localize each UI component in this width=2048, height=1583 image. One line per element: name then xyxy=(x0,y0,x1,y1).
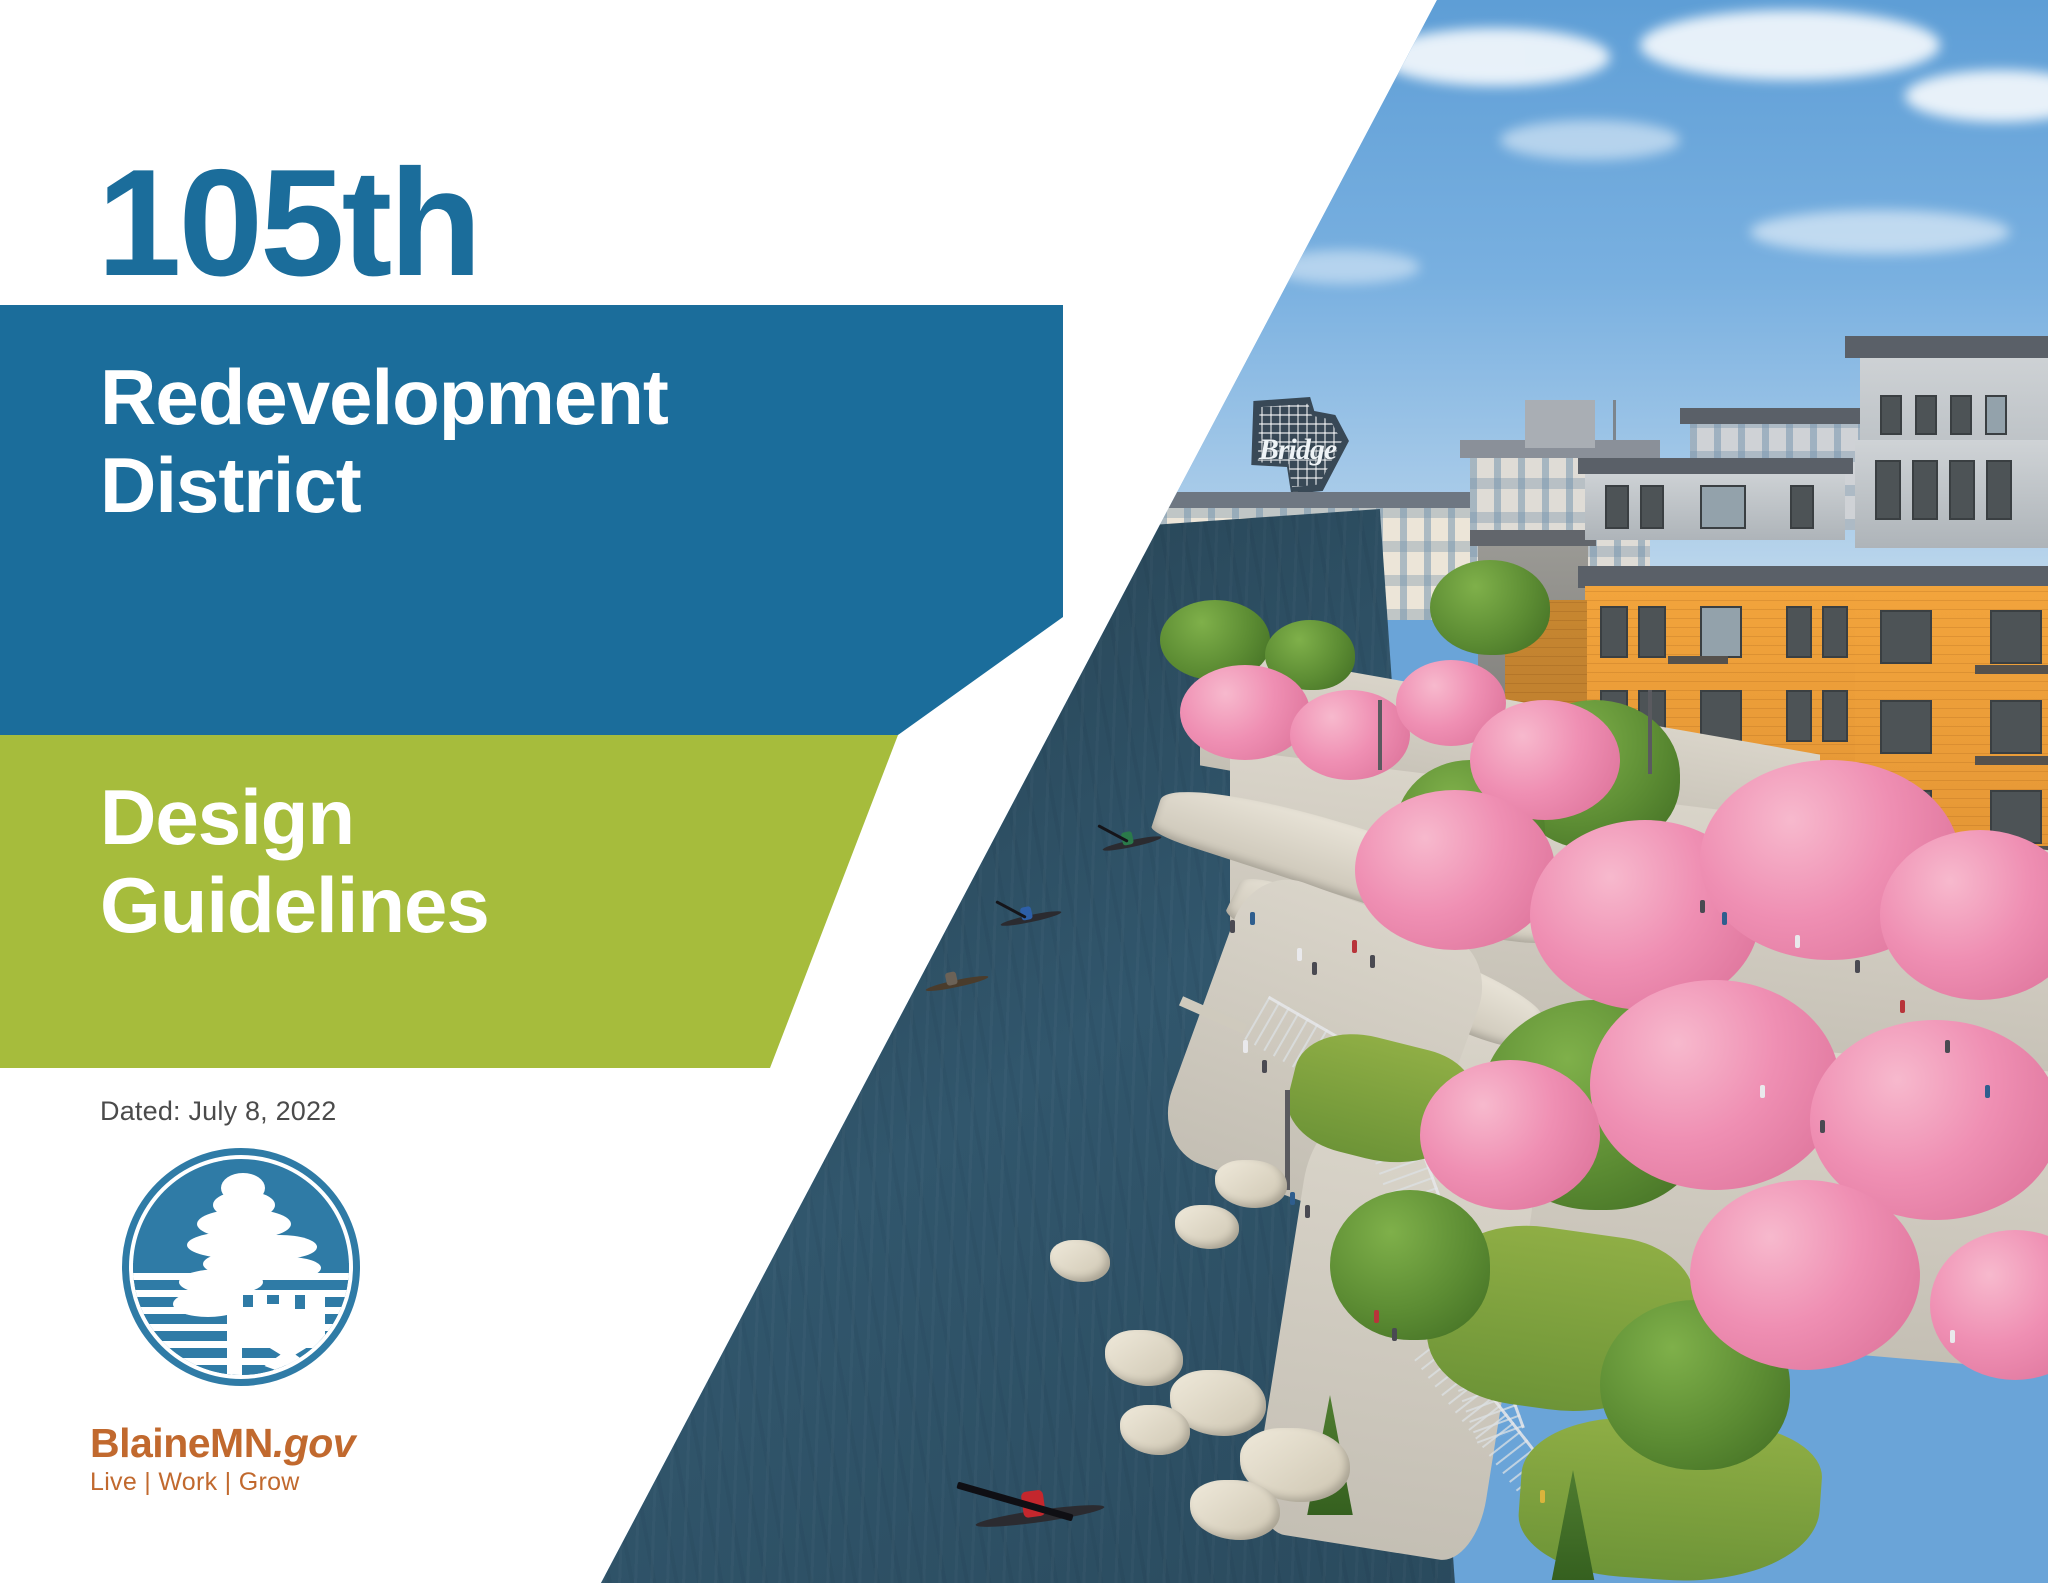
window xyxy=(1822,606,1848,658)
green-banner-line-2: Guidelines xyxy=(100,861,489,949)
balcony xyxy=(1975,665,2048,674)
document-cover-page: Bridge xyxy=(0,0,2048,1583)
pedestrian xyxy=(1312,962,1317,975)
window xyxy=(1880,700,1932,754)
window xyxy=(1790,485,1814,529)
pedestrian xyxy=(1243,1040,1248,1053)
light-pole xyxy=(1285,1090,1290,1190)
pedestrian xyxy=(1230,920,1235,933)
building-roof xyxy=(1578,458,1853,474)
pedestrian xyxy=(1297,948,1302,961)
balcony xyxy=(1668,656,1728,664)
pedestrian xyxy=(1290,1192,1295,1205)
brand-name-line: BlaineMN.gov xyxy=(90,1420,510,1467)
cloud xyxy=(1380,28,1610,86)
blue-banner-line-2: District xyxy=(100,441,668,529)
brand-tld: .gov xyxy=(273,1420,355,1466)
building-roof xyxy=(1845,336,2048,358)
blue-banner: Redevelopment District xyxy=(0,305,1063,735)
blaine-city-logo-icon xyxy=(122,1148,360,1386)
pedestrian xyxy=(1722,912,1727,925)
window xyxy=(1638,606,1666,658)
cherry-blossom-tree xyxy=(1355,790,1555,950)
pedestrian xyxy=(1795,935,1800,948)
pedestrian xyxy=(1760,1085,1765,1098)
pedestrian xyxy=(1392,1328,1397,1341)
blaine-wordmark: BlaineMN.gov Live | Work | Grow xyxy=(90,1420,510,1497)
pedestrian xyxy=(1250,912,1255,925)
green-banner-text: Design Guidelines xyxy=(100,773,489,949)
tower-cap xyxy=(1470,530,1596,546)
green-banner-line-1: Design xyxy=(100,773,489,861)
pedestrian xyxy=(1370,955,1375,968)
cover-text-column: 105th Redevelopment District Design Guid… xyxy=(0,0,1180,1583)
brand-name: BlaineMN xyxy=(90,1420,273,1466)
bridge-signage: Bridge xyxy=(1245,395,1350,495)
cherry-blossom-tree xyxy=(1180,665,1310,760)
light-pole xyxy=(1648,690,1652,774)
pedestrian xyxy=(1855,960,1860,973)
page-title: 105th xyxy=(97,148,917,298)
cherry-blossom-tree xyxy=(1420,1060,1600,1210)
window xyxy=(1875,460,1901,520)
cloud xyxy=(1750,210,2010,254)
blue-banner-line-1: Redevelopment xyxy=(100,353,668,441)
pedestrian xyxy=(1305,1205,1310,1218)
pedestrian xyxy=(1374,1310,1379,1323)
window xyxy=(1600,606,1628,658)
window xyxy=(1822,690,1848,742)
pedestrian xyxy=(1900,1000,1905,1013)
green-banner: Design Guidelines xyxy=(0,735,898,1068)
tree xyxy=(1330,1190,1490,1340)
pedestrian xyxy=(1262,1060,1267,1073)
building-cornice xyxy=(1578,566,2048,588)
cherry-blossom-tree xyxy=(1290,690,1410,780)
pedestrian xyxy=(1540,1490,1545,1503)
pedestrian xyxy=(1985,1085,1990,1098)
window xyxy=(1880,395,1902,435)
window xyxy=(1880,610,1932,664)
window xyxy=(1915,395,1937,435)
logo-pine-canopy xyxy=(185,1173,301,1348)
pedestrian xyxy=(1700,900,1705,913)
window xyxy=(1990,610,2042,664)
date-label: Dated: July 8, 2022 xyxy=(100,1096,336,1127)
window xyxy=(1949,460,1975,520)
window xyxy=(1950,395,1972,435)
balcony xyxy=(1975,756,2048,765)
building-roof xyxy=(1155,492,1515,508)
pedestrian xyxy=(1945,1040,1950,1053)
brand-tagline: Live | Work | Grow xyxy=(90,1468,510,1497)
logo-circle-outline xyxy=(122,1148,360,1386)
window xyxy=(1912,460,1938,520)
window xyxy=(1986,460,2012,520)
blue-banner-text: Redevelopment District xyxy=(100,353,668,529)
logo-circle-fill xyxy=(133,1159,349,1375)
tree xyxy=(1430,560,1550,655)
pedestrian xyxy=(1950,1330,1955,1343)
sign-text: Bridge xyxy=(1251,437,1343,463)
window xyxy=(1700,485,1746,529)
window xyxy=(1640,485,1664,529)
cloud xyxy=(1500,120,1680,160)
light-pole xyxy=(1378,700,1382,770)
window xyxy=(1605,485,1629,529)
building-penthouse xyxy=(1525,400,1595,448)
window xyxy=(1786,690,1812,742)
window xyxy=(1985,395,2007,435)
window xyxy=(1990,700,2042,754)
cherry-blossom-tree xyxy=(1690,1180,1920,1370)
window xyxy=(1786,606,1812,658)
pedestrian xyxy=(1352,940,1357,953)
cloud xyxy=(1640,10,1940,80)
cloud xyxy=(1270,250,1420,284)
cherry-blossom-tree xyxy=(1590,980,1840,1190)
pedestrian xyxy=(1820,1120,1825,1133)
window xyxy=(1700,606,1742,658)
